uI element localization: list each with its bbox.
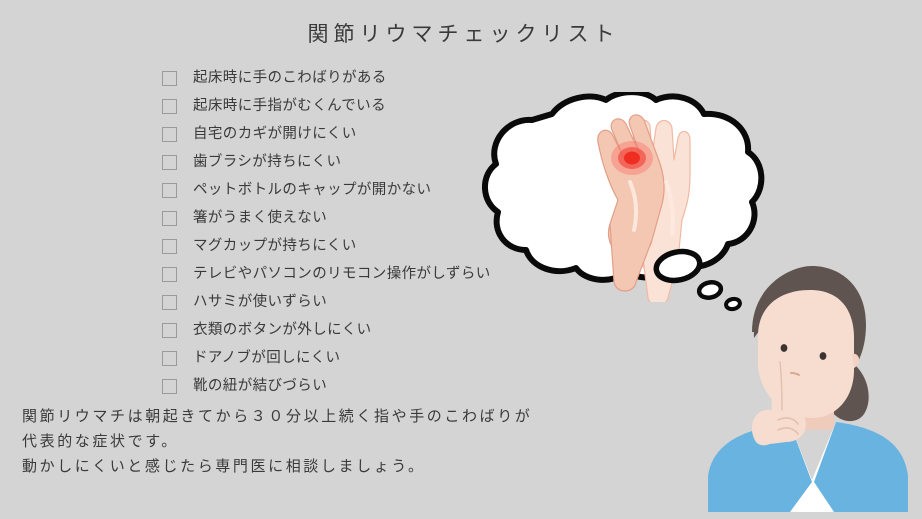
checkbox-icon[interactable] [162,155,177,170]
list-item-label: 靴の紐が結びづらい [193,379,327,394]
list-item-label: テレビやパソコンのリモコン操作がしずらい [193,267,491,282]
checkbox-icon[interactable] [162,71,177,86]
list-item[interactable]: 起床時に手のこわばりがある [162,64,592,92]
list-item-label: ハサミが使いずらい [193,295,327,310]
checkbox-icon[interactable] [162,127,177,142]
list-item-label: 歯ブラシが持ちにくい [193,155,341,170]
list-item[interactable]: 衣類のボタンが外しにくい [162,316,592,344]
list-item-label: ドアノブが回しにくい [193,351,340,366]
list-item-label: ペットボトルのキャップが開かない [193,183,431,198]
list-item-label: 自宅のカギが開けにくい [193,127,357,142]
explanatory-note: 関節リウマチは朝起きてから３０分以上続く指や手のこわばりが 代表的な症状です。 … [22,404,532,479]
checkbox-icon[interactable] [162,183,177,198]
list-item[interactable]: ドアノブが回しにくい [162,344,592,372]
page-title: 関節リウマチェックリスト [0,18,922,48]
checkbox-icon[interactable] [162,99,177,114]
checkbox-icon[interactable] [162,351,177,366]
list-item-label: 起床時に手のこわばりがある [193,71,387,86]
list-item-label: 箸がうまく使えない [193,211,327,226]
list-item-label: 衣類のボタンが外しにくい [193,323,372,338]
thinking-woman [694,262,922,519]
checkbox-icon[interactable] [162,379,177,394]
list-item-label: 起床時に手指がむくんでいる [193,99,386,114]
checkbox-icon[interactable] [162,295,177,310]
checkbox-icon[interactable] [162,211,177,226]
checkbox-icon[interactable] [162,239,177,254]
list-item[interactable]: 靴の紐が結びづらい [162,372,592,400]
checkbox-icon[interactable] [162,267,177,282]
checkbox-icon[interactable] [162,323,177,338]
slide-canvas: 関節リウマチェックリスト 起床時に手のこわばりがある 起床時に手指がむくんでいる… [0,0,922,519]
woman-eye-left [781,344,788,352]
woman-eye-right [820,352,827,360]
pain-indicator [611,141,653,175]
list-item-label: マグカップが持ちにくい [193,239,357,254]
